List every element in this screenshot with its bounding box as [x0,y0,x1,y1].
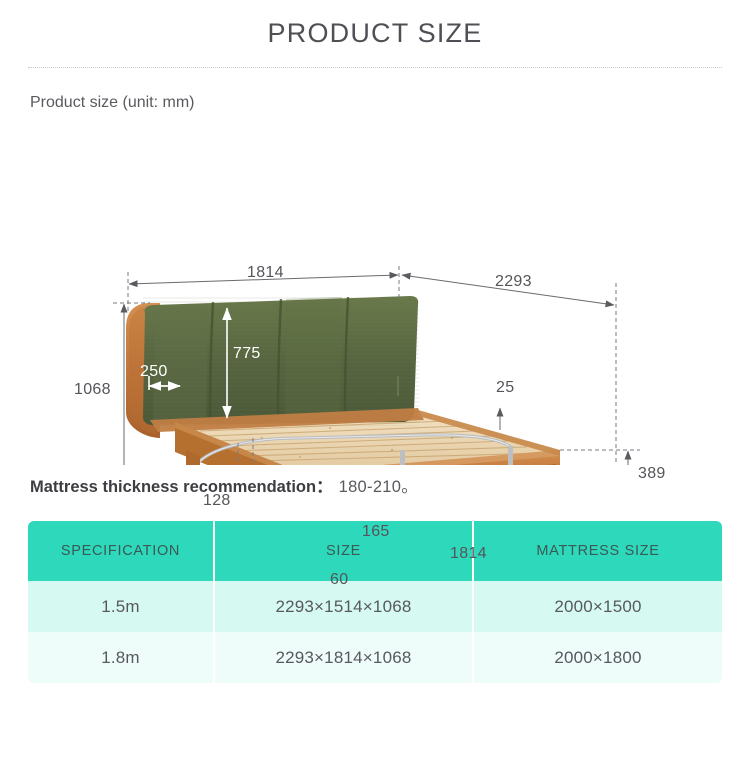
dim-label-depth: 2293 [495,273,532,291]
diagram-svg [0,120,750,465]
table-row: 1.8m 2293×1814×1068 2000×1800 [28,632,722,683]
table-cell-mattress-size: 2000×1500 [474,581,722,632]
bed-dimension-diagram: 1814 2293 1068 775 250 25 389 128 165 18… [0,120,750,465]
dim-label-leg-height: 165 [362,523,390,541]
table-cell-specification: 1.8m [28,632,215,683]
dim-label-slat-thickness: 25 [496,379,514,397]
dim-label-width-top: 1814 [247,264,284,282]
mattress-recommendation-value: 180-210。 [339,478,418,496]
table-cell-size: 2293×1814×1068 [215,632,474,683]
page-title: PRODUCT SIZE [0,0,750,50]
table-row: 1.5m 2293×1514×1068 2000×1500 [28,581,722,632]
table-header-specification: SPECIFICATION [28,521,215,581]
dim-label-cushion-offset: 250 [140,363,168,381]
dim-label-width-bottom: 1814 [450,545,487,563]
dim-label-leg-width: 60 [330,571,348,589]
bed-illustration [126,296,560,465]
table-cell-mattress-size: 2000×1800 [474,632,722,683]
mattress-recommendation-label: Mattress thickness recommendation： [30,478,333,496]
dim-label-frame-height: 389 [638,465,666,483]
table-header-mattress-size: MATTRESS SIZE [474,521,722,581]
header-divider [28,67,722,68]
dim-label-cushion-height: 775 [233,345,261,363]
dim-label-rail-height: 128 [203,492,231,510]
dim-label-overall-height: 1068 [74,381,111,399]
table-cell-specification: 1.5m [28,581,215,632]
size-table: SPECIFICATION SIZE MATTRESS SIZE 1.5m 22… [28,521,722,683]
headboard-cushions [143,296,419,426]
page-subtitle: Product size (unit: mm) [30,94,750,112]
